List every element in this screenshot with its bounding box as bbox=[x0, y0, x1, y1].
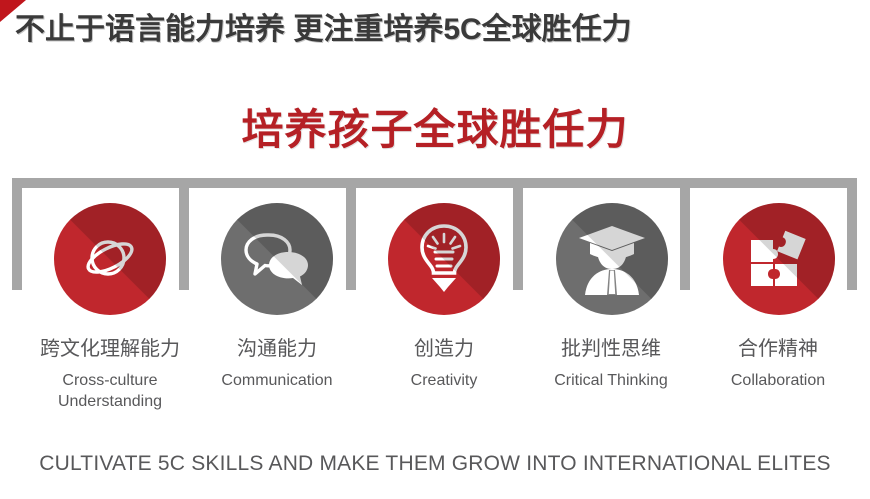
circle-shade bbox=[388, 203, 500, 315]
skill-circle-collaboration[interactable] bbox=[723, 203, 835, 315]
circle-background bbox=[221, 203, 333, 315]
circle-shade bbox=[723, 203, 835, 315]
footer-caption: CULTIVATE 5C SKILLS AND MAKE THEM GROW I… bbox=[0, 452, 870, 476]
skill-label-cn: 跨文化理解能力 bbox=[20, 336, 200, 362]
skill-label-en: Communication bbox=[187, 370, 367, 391]
skill-label-cross-culture: 跨文化理解能力 Cross-culture Understanding bbox=[20, 336, 200, 412]
circle-background bbox=[723, 203, 835, 315]
skill-circle-critical-thinking[interactable] bbox=[556, 203, 668, 315]
skill-label-en: Collaboration bbox=[688, 370, 868, 391]
header-band: 不止于语言能力培养 更注重培养5C全球胜任力 bbox=[0, 0, 870, 52]
skill-circles-row bbox=[0, 203, 870, 321]
skill-label-en: Creativity bbox=[354, 370, 534, 391]
skill-label-critical-thinking: 批判性思维 Critical Thinking bbox=[521, 336, 701, 391]
skill-circle-cross-culture[interactable] bbox=[54, 203, 166, 315]
skill-label-cn: 批判性思维 bbox=[521, 336, 701, 362]
skill-label-creativity: 创造力 Creativity bbox=[354, 336, 534, 391]
skill-label-en: Critical Thinking bbox=[521, 370, 701, 391]
skill-label-communication: 沟通能力 Communication bbox=[187, 336, 367, 391]
skill-label-collaboration: 合作精神 Collaboration bbox=[688, 336, 868, 391]
circle-background bbox=[388, 203, 500, 315]
circle-shade bbox=[54, 203, 166, 315]
skill-label-cn: 合作精神 bbox=[688, 336, 868, 362]
circle-background bbox=[54, 203, 166, 315]
circle-background bbox=[556, 203, 668, 315]
headline: 培养孩子全球胜任力 bbox=[0, 96, 870, 157]
circle-shade bbox=[556, 203, 668, 315]
skill-label-cn: 创造力 bbox=[354, 336, 534, 362]
skill-labels-row: 跨文化理解能力 Cross-culture Understanding 沟通能力… bbox=[0, 336, 870, 436]
skill-circle-communication[interactable] bbox=[221, 203, 333, 315]
bracket-rail bbox=[12, 178, 857, 188]
skill-label-en: Cross-culture Understanding bbox=[20, 370, 200, 412]
skill-circle-creativity[interactable] bbox=[388, 203, 500, 315]
skill-label-cn: 沟通能力 bbox=[187, 336, 367, 362]
circle-shade bbox=[221, 203, 333, 315]
page-title: 不止于语言能力培养 更注重培养5C全球胜任力 bbox=[15, 4, 632, 48]
